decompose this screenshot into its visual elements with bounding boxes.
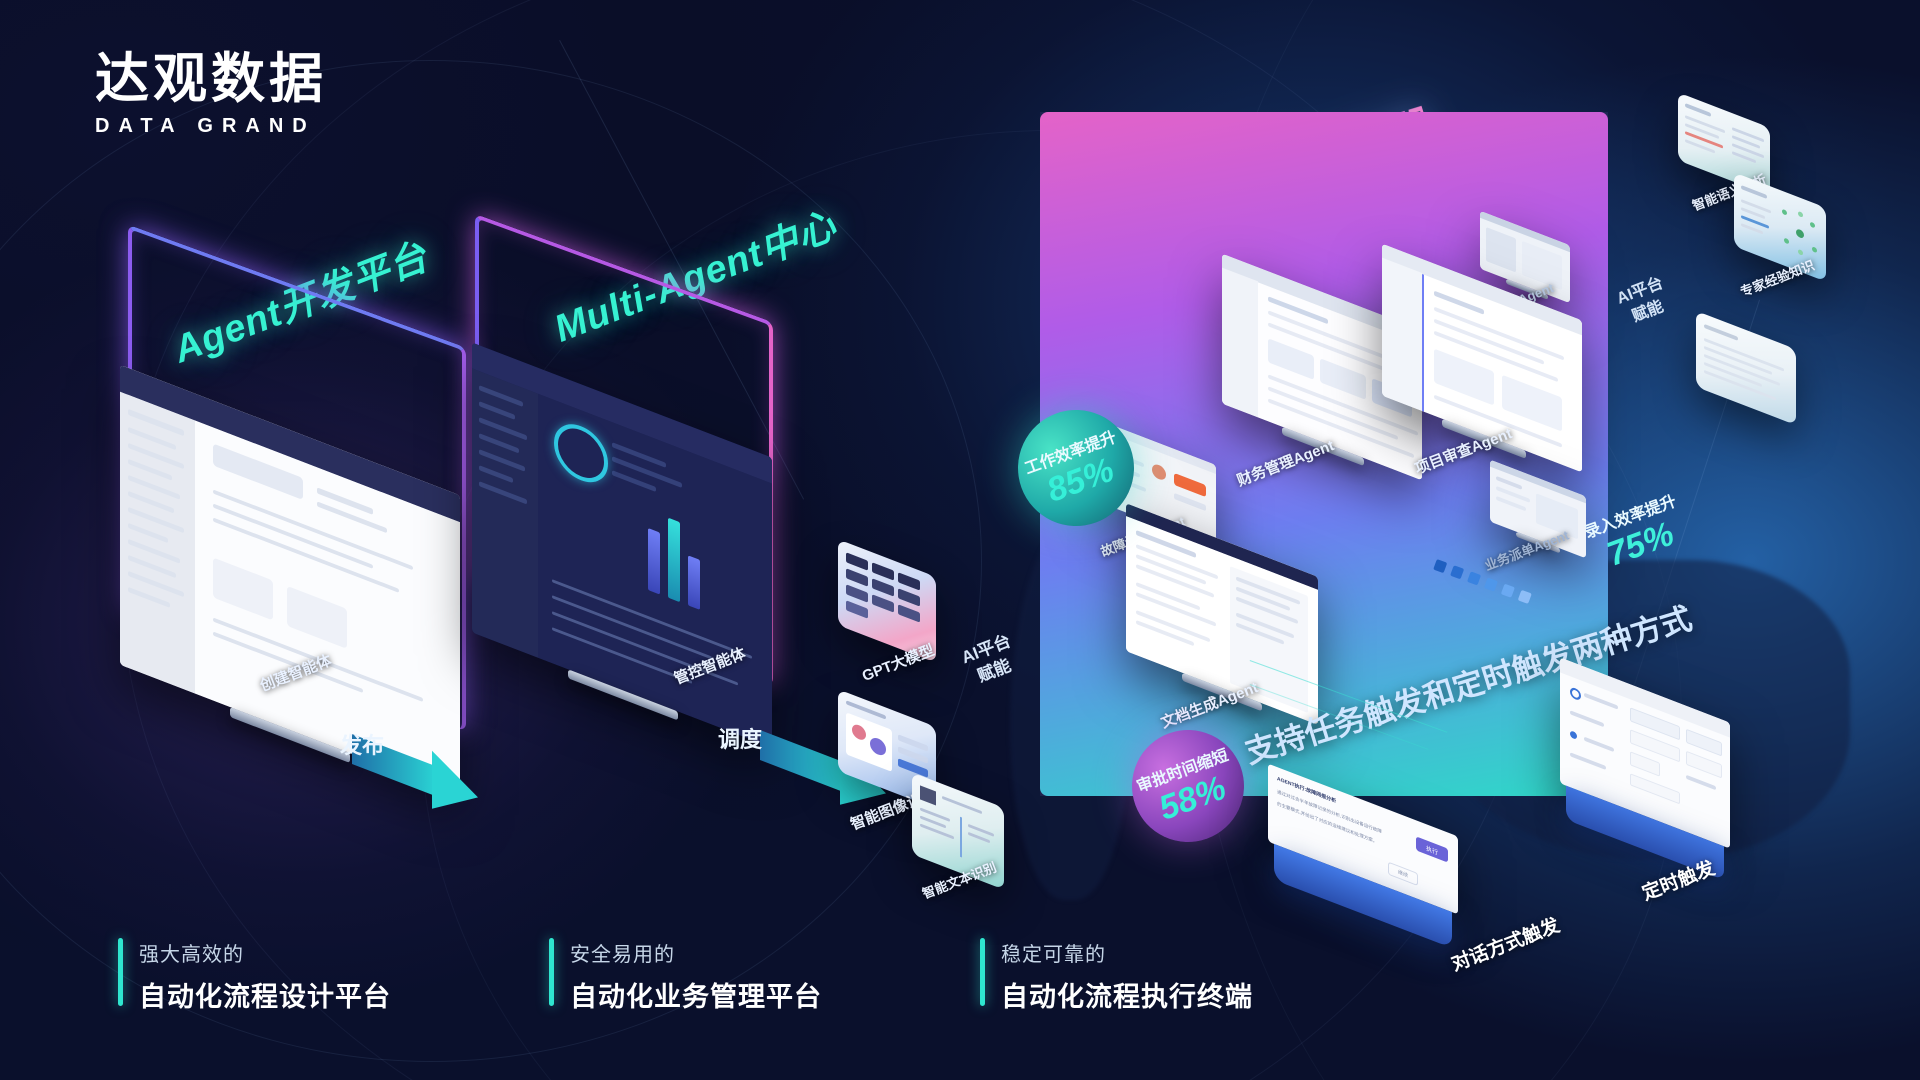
chat-card-secondary-button[interactable]: 继续 (1388, 862, 1418, 887)
brand-name-cn: 达观数据 (95, 50, 327, 109)
gauge-widget (554, 416, 608, 491)
feature-item-execution-terminal: 稳定可靠的 自动化流程执行终端 (980, 938, 1253, 1014)
brand-name-en: DATA GRAND (95, 115, 327, 138)
flow-arrow-dispatch-label: 调度 (718, 722, 762, 754)
infographic-canvas: 达观数据 DATA GRAND Agent开发平台 Multi-Agent中心 … (0, 0, 1920, 1080)
feature-list: 强大高效的 自动化流程设计平台 安全易用的 自动化业务管理平台 稳定可靠的 自动… (118, 938, 1253, 1014)
brand-logo: 达观数据 DATA GRAND (95, 50, 327, 138)
feature-accent-bar (549, 938, 554, 1006)
feature-subtitle: 强大高效的 (139, 938, 391, 967)
trigger-label-dialogue: 对话方式触发 (1447, 910, 1563, 976)
chat-card-execute-button[interactable]: 执行 (1416, 836, 1448, 862)
feature-title: 自动化流程设计平台 (139, 975, 391, 1014)
feature-accent-bar (118, 938, 123, 1006)
bar-chart-bar (688, 555, 700, 610)
feature-subtitle: 稳定可靠的 (1001, 938, 1253, 967)
capability-tile-extra[interactable] (1696, 311, 1796, 425)
feature-title: 自动化业务管理平台 (570, 975, 822, 1014)
bar-chart-bar (668, 518, 680, 603)
ai-platform-label-right-text: AI平台 赋能 (1615, 275, 1666, 325)
ai-platform-label-left-text: AI平台 赋能 (959, 631, 1014, 685)
ai-platform-label-right: AI平台 赋能 (1614, 273, 1674, 331)
feature-title: 自动化流程执行终端 (1001, 975, 1253, 1014)
feature-item-design-platform: 强大高效的 自动化流程设计平台 (118, 938, 391, 1014)
chat-card-body-2: 的主要模式,并给出了对应的运维建议和处理方案。 (1277, 801, 1413, 860)
bar-chart-bar (648, 528, 660, 595)
sidebar-panel (472, 369, 538, 658)
feature-item-business-platform: 安全易用的 自动化业务管理平台 (549, 938, 822, 1014)
flow-arrow-publish-label: 发布 (340, 728, 384, 760)
feature-subtitle: 安全易用的 (570, 938, 822, 967)
sidebar-panel (120, 392, 195, 694)
feature-accent-bar (980, 938, 985, 1006)
